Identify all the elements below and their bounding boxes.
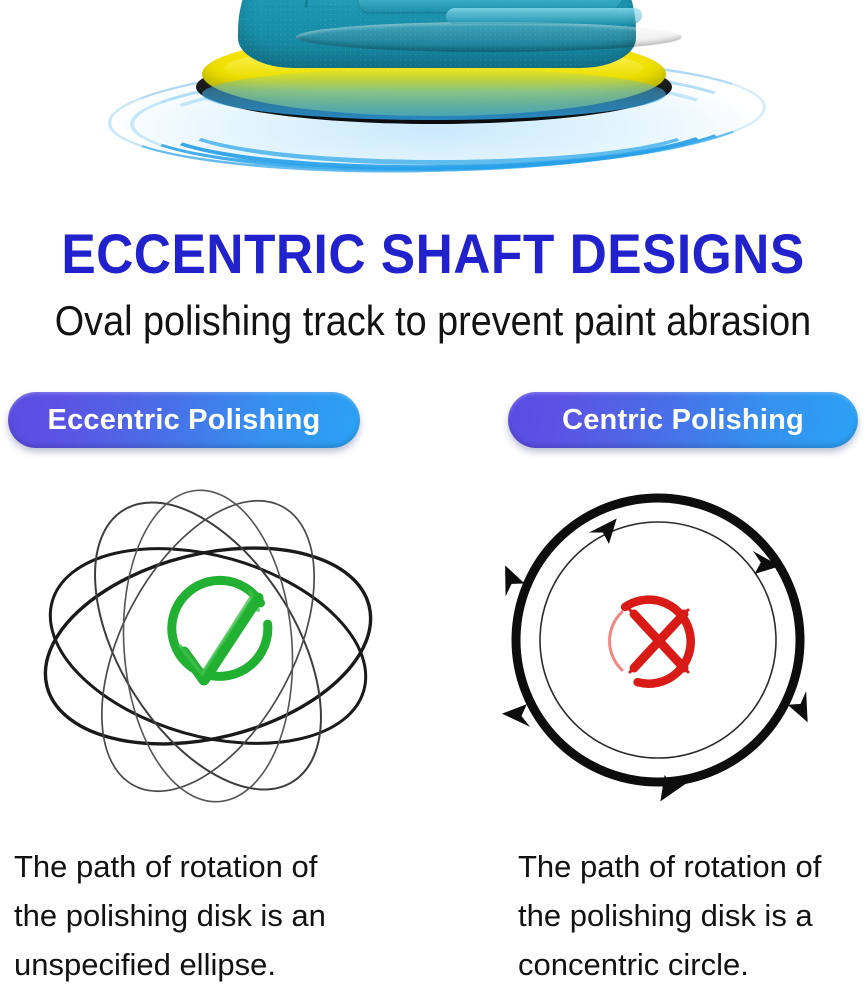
- caption-line: The path of rotation of: [518, 842, 866, 891]
- badge-eccentric-polishing[interactable]: Eccentric Polishing: [8, 392, 360, 448]
- orbit-ellipse: [25, 517, 392, 776]
- eccentric-orbit-diagram: [12, 470, 412, 820]
- badge-eccentric-label: Eccentric Polishing: [48, 404, 321, 437]
- polisher-housing: [238, 0, 636, 68]
- rotation-arrow: [491, 562, 525, 596]
- rotation-arrow: [501, 704, 530, 730]
- hero-product-image: [0, 0, 866, 205]
- caption-line: the polishing disk is an: [14, 891, 394, 940]
- housing-seam: [305, 0, 321, 8]
- red-cross-icon: [610, 591, 700, 688]
- caption-eccentric: The path of rotation of the polishing di…: [14, 842, 394, 989]
- pad-light-reflection: [202, 68, 666, 120]
- orbit-ellipse: [113, 485, 302, 808]
- page-subtitle: Oval polishing track to prevent paint ab…: [43, 296, 822, 346]
- caption-centric: The path of rotation of the polishing di…: [518, 842, 866, 989]
- eccentric-orbit-svg: [12, 470, 412, 820]
- centric-orbit-svg: [458, 470, 858, 820]
- caption-line: concentric circle.: [518, 940, 866, 989]
- caption-line: the polishing disk is a: [518, 891, 866, 940]
- badge-centric-polishing[interactable]: Centric Polishing: [508, 392, 858, 448]
- caption-line: unspecified ellipse.: [14, 940, 394, 989]
- page-title: ECCENTRIC SHAFT DESIGNS: [35, 222, 832, 286]
- centric-orbit-diagram: [458, 470, 858, 820]
- badge-centric-label: Centric Polishing: [562, 404, 804, 437]
- caption-line: The path of rotation of: [14, 842, 394, 891]
- housing-gloss-trim-tail: [445, 8, 642, 24]
- orbit-ellipse: [58, 466, 358, 826]
- orbit-ellipse: [27, 515, 388, 777]
- housing-base-ridge: [296, 22, 682, 52]
- green-check-icon: [166, 574, 274, 682]
- polisher-illustration: [186, 0, 682, 182]
